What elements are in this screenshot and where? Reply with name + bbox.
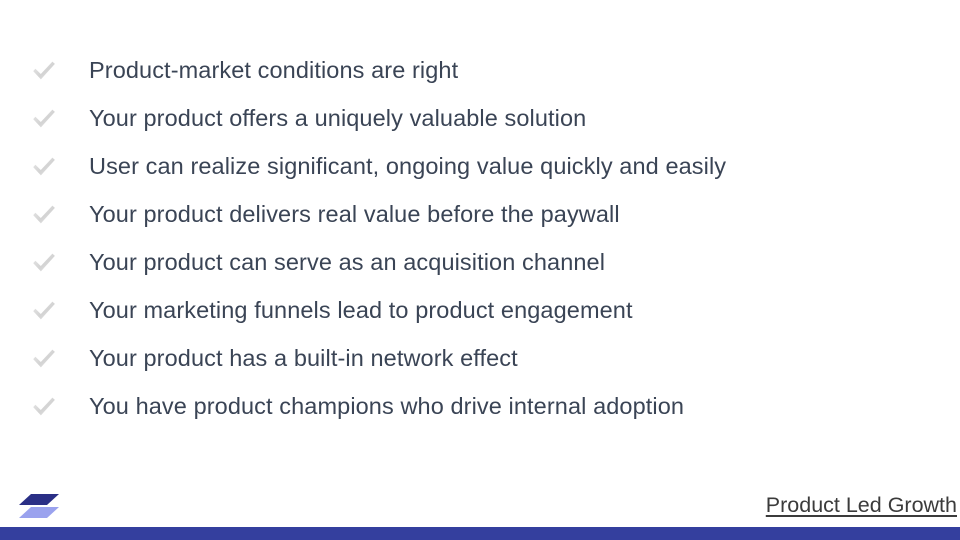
check-mark-icon [29,104,59,134]
list-item: You have product champions who drive int… [0,383,960,431]
list-item-label: User can realize significant, ongoing va… [89,154,726,180]
checklist: Product-market conditions are right Your… [0,47,960,431]
list-item-label: Your product delivers real value before … [89,202,620,228]
list-item-label: Your product can serve as an acquisition… [89,250,605,276]
list-item-label: Your marketing funnels lead to product e… [89,298,633,324]
list-item: Your product has a built-in network effe… [0,335,960,383]
list-item-label: Your product offers a uniquely valuable … [89,106,586,132]
list-item-label: Your product has a built-in network effe… [89,346,518,372]
check-mark-icon [29,392,59,422]
footer-title: Product Led Growth [766,494,957,518]
list-item-label: Product-market conditions are right [89,58,458,84]
list-item-label: You have product champions who drive int… [89,394,684,420]
list-item: Product-market conditions are right [0,47,960,95]
slide-canvas: Product-market conditions are right Your… [0,0,960,540]
check-mark-icon [29,344,59,374]
list-item: Your product delivers real value before … [0,191,960,239]
stacked-layers-logo [17,489,63,523]
list-item: Your marketing funnels lead to product e… [0,287,960,335]
check-mark-icon [29,200,59,230]
check-mark-icon [29,248,59,278]
list-item: Your product can serve as an acquisition… [0,239,960,287]
check-mark-icon [29,56,59,86]
check-mark-icon [29,296,59,326]
bottom-accent-bar [0,527,960,540]
check-mark-icon [29,152,59,182]
list-item: Your product offers a uniquely valuable … [0,95,960,143]
list-item: User can realize significant, ongoing va… [0,143,960,191]
